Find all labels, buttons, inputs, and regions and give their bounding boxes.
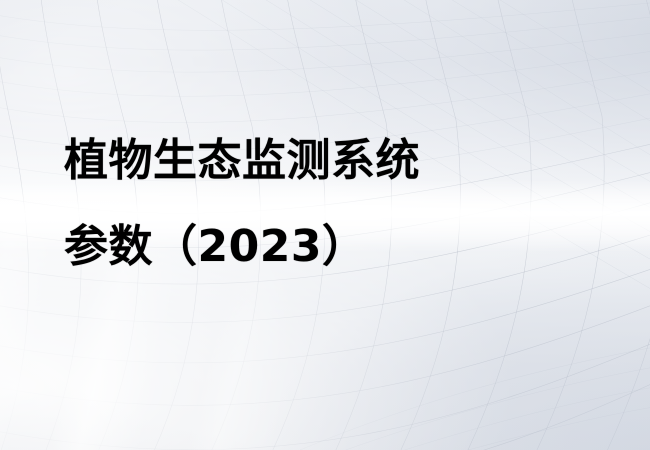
title-slide: 植物生态监测系统 参数（2023）: [0, 0, 650, 450]
page-title-line-2: 参数（2023）: [64, 204, 624, 290]
page-title-line-1: 植物生态监测系统: [64, 118, 624, 204]
page-title: 植物生态监测系统 参数（2023）: [64, 118, 624, 290]
